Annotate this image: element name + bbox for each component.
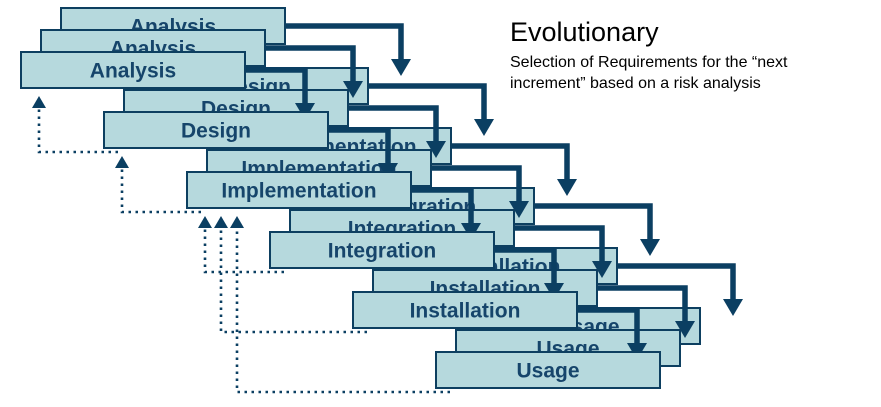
feedback-arrow-head <box>214 216 228 228</box>
stage-label-integration: Integration <box>328 240 437 263</box>
caption-line-1: Selection of Requirements for the “next <box>510 52 870 73</box>
caption-block: Evolutionary Selection of Requirements f… <box>510 18 870 94</box>
flow-arrow-head <box>557 179 577 196</box>
stage-label-design: Design <box>181 120 251 143</box>
feedback-arrow-head <box>32 96 46 108</box>
stage-label-implementation: Implementation <box>221 180 376 203</box>
flow-arrow-line <box>534 206 650 239</box>
flow-arrow-line <box>285 26 401 59</box>
stage-installation-layer-2: Installation <box>353 292 577 328</box>
stage-design-layer-2: Design <box>104 112 328 148</box>
flow-arrow-head <box>723 299 743 316</box>
stage-label-usage: Usage <box>516 360 579 383</box>
evolutionary-waterfall-diagram: AnalysisDesignImplementationIntegrationI… <box>0 0 881 407</box>
flow-arrow-line <box>617 266 733 299</box>
stage-analysis-layer-2: Analysis <box>21 52 245 88</box>
stage-implementation-layer-2: Implementation <box>187 172 411 208</box>
feedback-arrow-head <box>115 156 129 168</box>
flow-arrow-head <box>474 119 494 136</box>
flow-arrow-line <box>451 146 567 179</box>
stage-label-analysis: Analysis <box>90 60 176 83</box>
stage-label-installation: Installation <box>410 300 521 323</box>
flow-arrow-head <box>391 59 411 76</box>
caption-title: Evolutionary <box>510 18 870 48</box>
caption-line-2: increment” based on a risk analysis <box>510 73 870 94</box>
flow-arrow-head <box>640 239 660 256</box>
feedback-arrow-head <box>198 216 212 228</box>
flow-arrow-line <box>368 86 484 119</box>
feedback-arrow-head <box>230 216 244 228</box>
stage-usage-layer-2: Usage <box>436 352 660 388</box>
stage-integration-layer-2: Integration <box>270 232 494 268</box>
